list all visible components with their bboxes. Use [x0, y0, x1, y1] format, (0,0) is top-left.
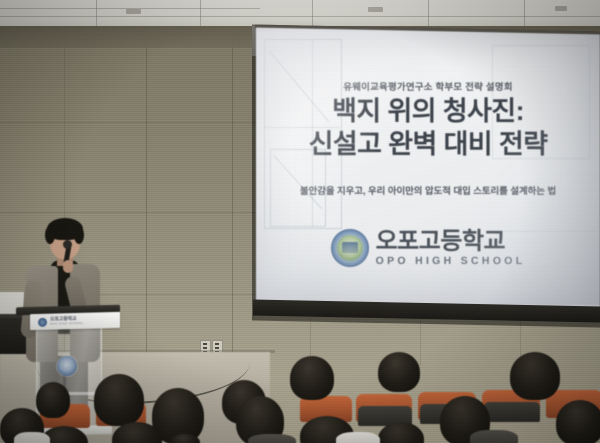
audience-seat-back: [484, 402, 540, 422]
school-logo: 오포고등학교 OPO HIGH SCHOOL: [256, 229, 600, 267]
speaker-hand: [63, 260, 73, 273]
slide-subtitle: 불안감을 지우고, 우리 아이만의 압도적 대입 스토리를 설계하는 법: [256, 183, 600, 197]
presentation-photo-scene: 유웨이교육평가연구소 학부모 전략 설명회 백지 위의 청사진: 신설고 완벽 …: [0, 0, 600, 443]
audience-head: [36, 382, 70, 418]
slide-title-line-2: 신설고 완벽 대비 전략: [256, 130, 600, 159]
podium-plate-emblem-icon: [38, 317, 47, 326]
audience-head: [510, 352, 560, 400]
audience: [0, 352, 600, 443]
podium-plate-name-en: OPO HIGH SCHOOL: [50, 322, 84, 325]
audience-head: [94, 374, 144, 426]
audience-shoulder: [470, 430, 518, 443]
slide-title-line-1: 백지 위의 청사진:: [256, 97, 600, 126]
audience-head: [170, 434, 200, 443]
audience-shoulder: [14, 432, 50, 443]
ceiling-vent-icon: [368, 7, 383, 12]
slide-kicker: 유웨이교육평가연구소 학부모 전략 설명회: [256, 79, 600, 93]
podium-name-plate: 오포고등학교 OPO HIGH SCHOOL: [30, 312, 120, 330]
projection-screen: 유웨이교육평가연구소 학부모 전략 설명회 백지 위의 청사진: 신설고 완벽 …: [256, 28, 600, 309]
audience-shoulder: [336, 432, 380, 443]
microphone-icon: [63, 240, 72, 249]
ceiling-vent-icon: [555, 6, 567, 11]
slide-content: 유웨이교육평가연구소 학부모 전략 설명회 백지 위의 청사진: 신설고 완벽 …: [256, 31, 600, 305]
school-name-ko: 오포고등학교: [376, 230, 526, 254]
audience-head: [556, 400, 600, 443]
audience-shoulder: [248, 434, 296, 443]
audience-head: [290, 356, 334, 400]
ceiling-vent-icon: [126, 9, 141, 14]
school-name-en: OPO HIGH SCHOOL: [376, 256, 526, 267]
audience-head: [378, 352, 420, 392]
school-crest-emblem-icon: [331, 229, 369, 267]
